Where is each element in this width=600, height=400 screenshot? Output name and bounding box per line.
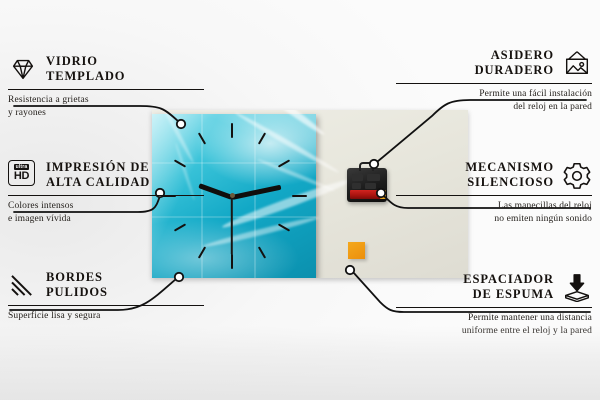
- gear-icon: [562, 160, 592, 190]
- feature-title: ASIDERO DURADERO: [475, 48, 554, 78]
- mechanism-slot: [365, 183, 376, 189]
- feature-title-line1: BORDES: [46, 270, 108, 285]
- clock-tick: [231, 123, 233, 138]
- hd-badge-bottom-label: HD: [14, 171, 29, 182]
- feature-title-line2: DE ESPUMA: [463, 287, 554, 302]
- feature-description: Permite mantener una distancia uniforme …: [396, 312, 592, 337]
- feature-header: VIDRIO TEMPLADO: [8, 52, 204, 86]
- feature-description: Resistencia a grietas y rayones: [8, 94, 204, 119]
- feature-divider: [396, 83, 592, 84]
- infographic-canvas: VIDRIO TEMPLADO Resistencia a grietas y …: [0, 0, 600, 400]
- clock-tick: [292, 195, 307, 197]
- clock-tick: [258, 132, 266, 144]
- feature-asidero-duradero: ASIDERO DURADERO Permite una fácil insta…: [396, 46, 592, 113]
- feature-desc-line1: Resistencia a grietas: [8, 94, 204, 107]
- clock-minute-hand: [231, 185, 281, 200]
- feature-desc-line2: no emiten ningún sonido: [396, 213, 592, 226]
- battery-positive-terminal: [380, 190, 386, 199]
- diamond-icon: [8, 54, 38, 84]
- feather-streak: [202, 214, 320, 249]
- foam-spacer-sample: [348, 242, 365, 259]
- feature-desc-line1: Superficie lisa y segura: [8, 310, 204, 323]
- feature-title-line2: DURADERO: [475, 63, 554, 78]
- feature-title: MECANISMO SILENCIOSO: [465, 160, 554, 190]
- feature-description: Colores intensos e imagen vívida: [8, 200, 204, 225]
- feature-title-line2: TEMPLADO: [46, 69, 125, 84]
- wall-hanger-icon: [562, 48, 592, 78]
- feature-title-line2: ALTA CALIDAD: [46, 175, 150, 190]
- feature-header: MECANISMO SILENCIOSO: [396, 158, 592, 192]
- feature-divider: [396, 307, 592, 308]
- feature-impresion-alta-calidad: ultra HD IMPRESIÓN DE ALTA CALIDAD Color…: [8, 158, 204, 225]
- feature-description: Superficie lisa y segura: [8, 310, 204, 323]
- clock-mechanism: [347, 168, 387, 202]
- feature-title: IMPRESIÓN DE ALTA CALIDAD: [46, 160, 150, 190]
- feature-desc-line1: Permite una fácil instalación: [396, 88, 592, 101]
- feature-header: ASIDERO DURADERO: [396, 46, 592, 80]
- feature-desc-line1: Colores intensos: [8, 200, 204, 213]
- feature-title-line1: ESPACIADOR: [463, 272, 554, 287]
- feature-vidrio-templado: VIDRIO TEMPLADO Resistencia a grietas y …: [8, 52, 204, 119]
- foam-spacer-icon: [562, 272, 592, 302]
- feature-title-line1: MECANISMO: [465, 160, 554, 175]
- feature-desc-line2: uniforme entre el reloj y la pared: [396, 325, 592, 338]
- feature-desc-line1: Las manecillas del reloj: [396, 200, 592, 213]
- feature-desc-line1: Permite mantener una distancia: [396, 312, 592, 325]
- mechanism-battery: [350, 190, 384, 199]
- mechanism-slot: [352, 174, 363, 181]
- clock-tick: [231, 254, 233, 269]
- ultra-hd-badge-icon: ultra HD: [8, 160, 38, 190]
- feature-title: BORDES PULIDOS: [46, 270, 108, 300]
- mechanism-slot: [352, 183, 361, 189]
- feature-mecanismo-silencioso: MECANISMO SILENCIOSO Las manecillas del …: [396, 158, 592, 225]
- feature-desc-line2: y rayones: [8, 107, 204, 120]
- clock-center-hub: [230, 193, 235, 198]
- feature-description: Las manecillas del reloj no emiten ningú…: [396, 200, 592, 225]
- feature-desc-line2: e imagen vívida: [8, 213, 204, 226]
- feature-title-line1: VIDRIO: [46, 54, 125, 69]
- feature-desc-line2: del reloj en la pared: [396, 101, 592, 114]
- clock-second-hand: [231, 197, 233, 255]
- feature-title-line1: IMPRESIÓN DE: [46, 160, 150, 175]
- feature-divider: [8, 89, 204, 90]
- glass-seam: [254, 114, 256, 278]
- feature-divider: [8, 195, 204, 196]
- polished-edges-icon: [8, 270, 38, 300]
- feature-header: BORDES PULIDOS: [8, 268, 204, 302]
- feature-bordes-pulidos: BORDES PULIDOS Superficie lisa y segura: [8, 268, 204, 323]
- feature-divider: [8, 305, 204, 306]
- feature-description: Permite una fácil instalación del reloj …: [396, 88, 592, 113]
- feature-title: ESPACIADOR DE ESPUMA: [463, 272, 554, 302]
- mechanism-slot: [367, 174, 380, 181]
- feature-divider: [396, 195, 592, 196]
- mechanism-hanger-loop: [359, 162, 374, 171]
- clock-tick: [258, 246, 266, 258]
- feature-header: ultra HD IMPRESIÓN DE ALTA CALIDAD: [8, 158, 204, 192]
- feature-title-line1: ASIDERO: [475, 48, 554, 63]
- feature-title-line2: PULIDOS: [46, 285, 108, 300]
- feature-title: VIDRIO TEMPLADO: [46, 54, 125, 84]
- feature-title-line2: SILENCIOSO: [465, 175, 554, 190]
- feature-header: ESPACIADOR DE ESPUMA: [396, 270, 592, 304]
- feature-espaciador-de-espuma: ESPACIADOR DE ESPUMA Permite mantener un…: [396, 270, 592, 337]
